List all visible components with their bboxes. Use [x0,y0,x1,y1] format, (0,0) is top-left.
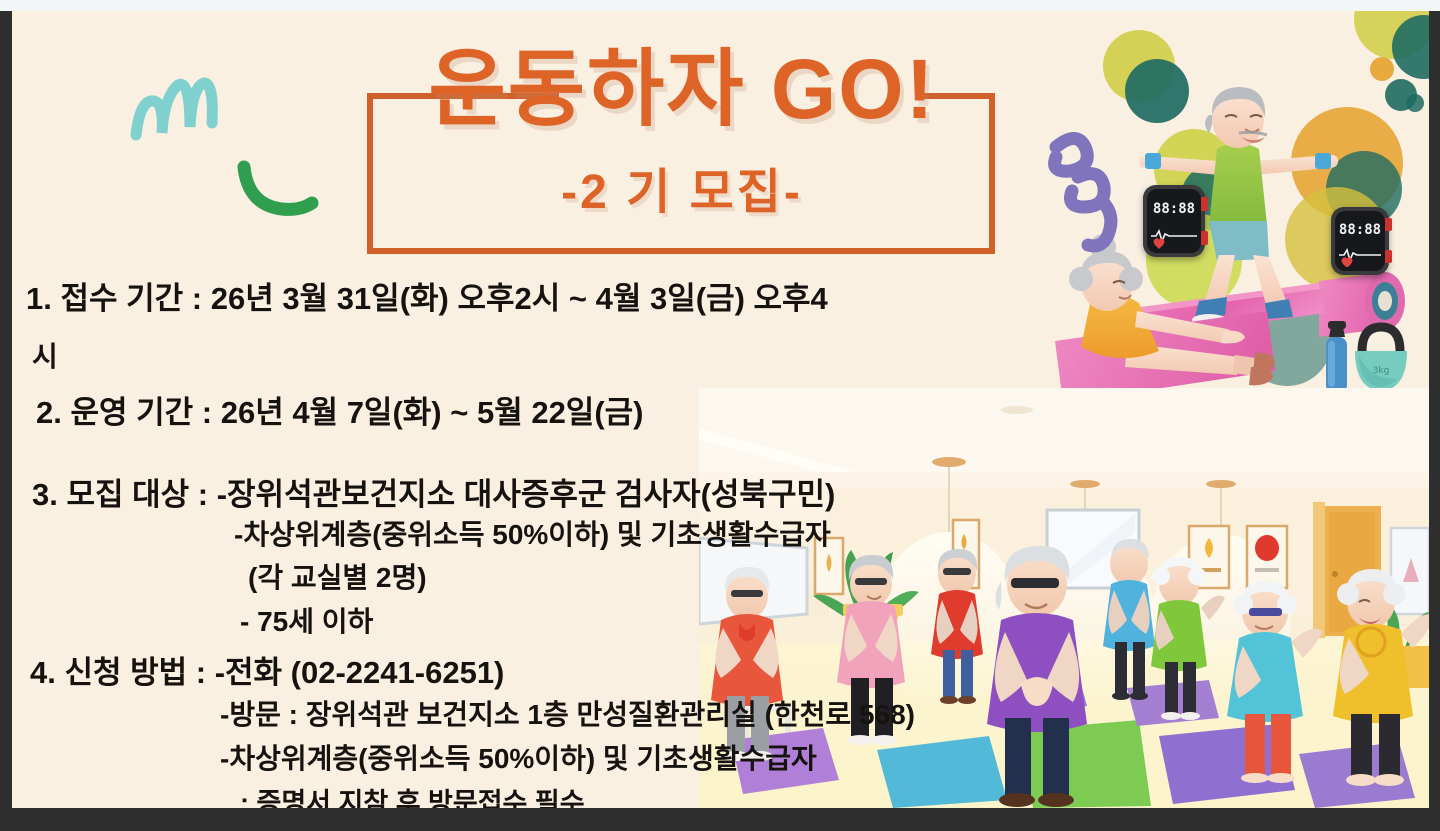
info-line-application-period: 1. 접수 기간 : 26년 3월 31일(화) 오후2시 ~ 4월 3일(금)… [26,273,828,318]
screenshot-stage: 3kg 88:88 [0,0,1440,831]
poster-canvas: 3kg 88:88 [12,11,1429,808]
frame-right-segment [989,93,995,254]
watch-time-display-left: 88:88 [1147,201,1201,217]
info-line-apply-low-income: -차상위계층(중위소득 50%이하) 및 기초생활수급자 [220,737,817,777]
frame-bottom-segment [367,248,995,254]
watch-time-display-right: 88:88 [1335,222,1385,238]
right-dark-edge [1429,11,1440,808]
kettlebell: 3kg [1355,327,1407,391]
teal-squiggle-doodle [124,57,220,143]
watch-screen-right: 88:88 [1335,211,1385,271]
info-line-eligibility-quota: (각 교실별 2명) [248,556,427,596]
frame-left-segment [367,93,373,254]
top-light-strip [0,0,1440,11]
info-line-apply-method-visit: -방문 : 장위석관 보건지소 1층 만성질환관리실 (한천로 568) [220,693,915,733]
info-line-apply-method-phone: 4. 신청 방법 : -전화 (02-2241-6251) [30,647,504,692]
info-line-operation-period: 2. 운영 기간 : 26년 4월 7일(화) ~ 5월 22일(금) [36,387,644,432]
info-line-apply-certificate-note: : 증명서 지참 후 방문접수 필수 [240,781,585,808]
kettlebell-weight-label: 3kg [1373,366,1390,376]
page-title: 운동하자 GO! [402,47,962,131]
info-line-application-period-wrap: 시 [32,335,58,375]
watch-screen-left: 88:88 [1147,189,1201,253]
bottom-dark-edge [0,808,1440,831]
left-dark-edge [0,11,12,808]
green-curve-doodle [234,159,320,221]
info-line-eligibility-low-income: -차상위계층(중위소득 50%이하) 및 기초생활수급자 [234,513,831,553]
info-line-eligibility-age: - 75세 이하 [240,600,373,640]
page-subtitle: -2 기 모집- [402,169,962,217]
purple-spiral-doodle [1036,123,1142,257]
info-line-eligibility: 3. 모집 대상 : -장위석관보건지소 대사증후군 검사자(성북구민) [32,469,835,514]
watch-heart-graph-left [1147,223,1201,249]
smartwatch-right: 88:88 [1331,207,1389,275]
smartwatch-left: 88:88 [1143,185,1205,257]
watch-heart-graph-right [1335,243,1385,267]
